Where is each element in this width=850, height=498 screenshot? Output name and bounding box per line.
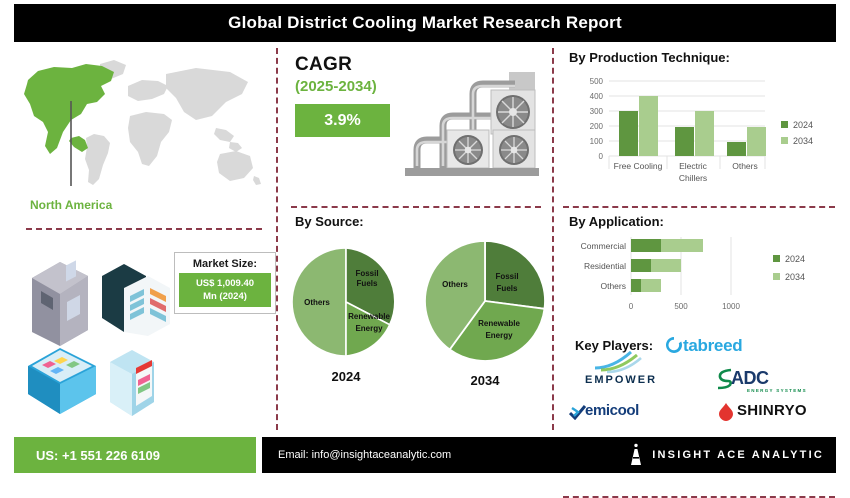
key-players-grid: Key Players: tabreed EMPOWER [569,334,841,430]
pie-2034-label-renew-1: Renewable [478,319,520,328]
map-region-label: North America [30,198,112,212]
bar-others-app-2024 [631,279,641,292]
svg-text:100: 100 [590,137,604,146]
middle-column: CAGR (2025-2034) 3.9% [281,46,549,428]
svg-text:300: 300 [590,107,604,116]
bar-commercial-2034 [661,239,703,252]
pie-charts-row: Others Fossil Fuels Renewable Energy 202… [281,235,549,410]
svg-text:Free Cooling: Free Cooling [614,161,663,171]
by-application-title: By Application: [569,214,842,229]
bar-others-2034 [747,127,766,156]
page-title: Global District Cooling Market Research … [228,13,622,33]
footer-bar: US: +1 551 226 6109 Email: info@insighta… [14,437,836,473]
pie-2024-label-renew-2: Energy [355,324,383,333]
by-source-title: By Source: [281,214,549,229]
logo-tabreed-text: tabreed [683,336,742,355]
legend-swatch-app-2034 [773,273,780,280]
header-bar: Global District Cooling Market Research … [14,4,836,42]
production-bar-chart: 500 400 300 200 100 0 [569,69,841,199]
legend-label-app-2034: 2034 [785,272,805,282]
left-column: North America [8,46,273,428]
pie-2034-year: 2034 [421,373,549,388]
infographic-page: Global District Cooling Market Research … [0,0,850,478]
production-y-ticks: 500 400 300 200 100 0 [590,77,604,161]
footer-phone: US: +1 551 226 6109 [14,437,256,473]
pie-2034-label-others: Others [442,280,468,289]
logo-emicool-text: emicool [585,402,639,419]
market-size-amount: US$ 1,009.40 [181,277,269,290]
by-production-technique-section: By Production Technique: 500 400 300 200 [557,46,842,206]
production-legend: 2024 2034 [781,120,813,146]
divider-vertical-right [552,48,554,430]
pie-2024-label-renew-1: Renewable [348,312,390,321]
bar-free-cooling-2034 [639,96,658,156]
pie-2034-label-renew-2: Energy [485,331,513,340]
right-column: By Production Technique: 500 400 300 200 [557,46,842,428]
footer-email: Email: info@insightaceanalytic.com [262,449,451,461]
logo-tabreed: tabreed [665,336,742,356]
market-size-value: US$ 1,009.40 Mn (2024) [179,273,271,307]
logo-shinryo-text: SHINRYO [737,402,807,419]
svg-text:400: 400 [590,92,604,101]
insightace-logo-icon [628,443,644,467]
tabreed-mark-icon [665,336,683,354]
shinryo-mark-icon [717,402,735,422]
legend-swatch-2024 [781,121,788,128]
application-bar-chart: Commercial Residential Others 0 500 [569,233,841,329]
pie-chart-2024: Others Fossil Fuels Renewable Energy 202… [287,243,405,384]
application-x-ticks: 0 500 1000 [629,302,741,311]
footer-brand-text: INSIGHT ACE ANALYTIC [652,449,824,461]
svg-text:0: 0 [629,302,634,311]
application-legend: 2024 2034 [773,254,805,282]
by-application-section: By Application: Commercial Residential O… [557,214,842,334]
hvac-chiller-icon [399,64,549,184]
bar-free-cooling-2024 [619,111,638,156]
bar-residential-2034 [651,259,681,272]
market-size-unit: Mn (2024) [181,290,269,303]
pie-chart-2034: Others Fossil Fuels Renewable Energy 203… [421,237,549,388]
divider-middle-horizontal [291,206,541,208]
world-map-svg [8,46,273,206]
logo-adc-text: ADC [731,368,769,389]
legend-label-app-2024: 2024 [785,254,805,264]
bar-electric-chillers-2034 [695,111,714,156]
svg-text:200: 200 [590,122,604,131]
svg-text:Others: Others [732,161,758,171]
svg-text:Commercial: Commercial [581,241,626,251]
by-production-technique-title: By Production Technique: [569,50,842,65]
bar-others-2024 [727,142,746,156]
divider-right-horizontal-1 [563,206,835,208]
svg-text:500: 500 [590,77,604,86]
bar-electric-chillers-2024 [675,127,694,156]
logo-adc-subtext: ENERGY SYSTEMS [747,388,807,393]
cagr-block: CAGR (2025-2034) 3.9% [281,46,549,201]
hvac-chiller-svg [399,64,549,184]
key-players-section: Key Players: tabreed EMPOWER [557,334,842,430]
bar-commercial-2024 [631,239,661,252]
appliance-icons-group [14,244,174,424]
pie-2034-label-fossil-1: Fossil [495,272,518,281]
bar-residential-2024 [631,259,651,272]
pie-2034-label-fossil-2: Fuels [497,284,518,293]
divider-vertical-left [276,48,278,430]
market-size-box: Market Size: US$ 1,009.40 Mn (2024) [174,252,276,314]
pie-2024-label-fossil-1: Fossil [355,269,378,278]
side-by-side-refrigerator-icon [32,260,88,346]
svg-text:Residential: Residential [584,261,626,271]
svg-text:Chillers: Chillers [679,173,707,183]
legend-swatch-2034 [781,137,788,144]
svg-text:0: 0 [599,152,604,161]
empower-mark-icon [591,348,645,374]
legend-label-2024: 2024 [793,120,813,130]
application-bars [631,239,703,292]
svg-text:1000: 1000 [722,302,740,311]
svg-text:500: 500 [674,302,688,311]
application-category-labels: Commercial Residential Others [581,241,626,291]
divider-left-horizontal [26,228,262,230]
pie-2024-label-fossil-2: Fuels [357,279,378,288]
appliance-icons-svg [14,244,174,424]
legend-label-2034: 2034 [793,136,813,146]
legend-swatch-app-2024 [773,255,780,262]
pie-2034-svg: Others Fossil Fuels Renewable Energy [421,237,549,365]
world-map: North America [8,46,273,206]
footer-brand: INSIGHT ACE ANALYTIC [628,437,824,473]
market-size-title: Market Size: [179,258,271,270]
open-refrigerator-icon [102,264,170,336]
svg-text:Others: Others [600,281,626,291]
production-category-labels: Free Cooling Electric Chillers Others [614,161,758,183]
bar-others-app-2034 [641,279,661,292]
logo-empower-text: EMPOWER [585,374,657,386]
pie-2024-year: 2024 [287,369,405,384]
footer-contact-bar: Email: info@insightaceanalytic.com INSIG… [262,437,836,473]
svg-text:Electric: Electric [679,161,708,171]
pie-2024-svg: Others Fossil Fuels Renewable Energy [287,243,405,361]
chest-freezer-icon [28,348,96,414]
by-source-section: By Source: Others Fossil Fuels Renew [281,214,549,410]
pie-2024-label-others: Others [304,298,330,307]
cagr-value-badge: 3.9% [295,104,390,137]
display-cooler-icon [110,350,154,416]
